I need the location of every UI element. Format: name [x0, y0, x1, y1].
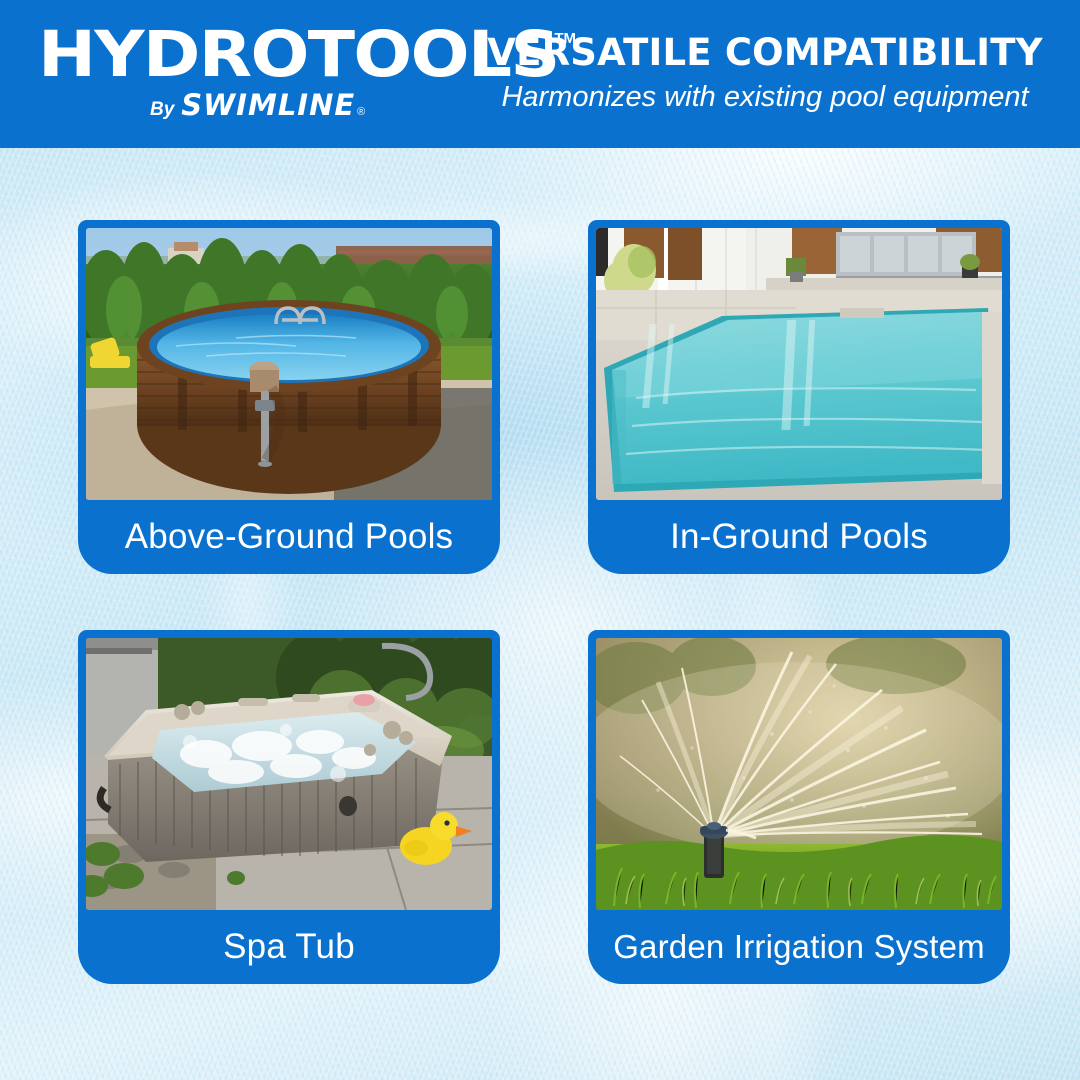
- garden-sprinkler-photo: [596, 638, 1002, 910]
- card-label: Garden Irrigation System: [596, 910, 1002, 984]
- header-text-block: VERSATILE COMPATIBILITY Harmonizes with …: [470, 33, 1080, 115]
- card-label: Above-Ground Pools: [86, 500, 492, 574]
- in-ground-pool-photo: [596, 228, 1002, 500]
- card-label: In-Ground Pools: [596, 500, 1002, 574]
- header-bar: HYDROTOOLS TM By SWIMLINE ® VERSATILE CO…: [0, 0, 1080, 148]
- brand-logo: HYDROTOOLS TM By SWIMLINE ®: [0, 26, 470, 123]
- logo-wordmark: HYDROTOOLS: [38, 26, 559, 84]
- card-label: Spa Tub: [86, 910, 492, 984]
- card-above-ground-pools[interactable]: Above-Ground Pools: [78, 220, 500, 574]
- compatibility-card-grid: Above-Ground Pools: [0, 148, 1080, 1080]
- above-ground-wooden-pool-photo: [86, 228, 492, 500]
- logo-wordmark-row: HYDROTOOLS TM: [38, 26, 576, 84]
- logo-parent-brand-row: By SWIMLINE ®: [150, 88, 365, 122]
- card-spa-tub[interactable]: Spa Tub: [78, 630, 500, 984]
- card-in-ground-pools[interactable]: In-Ground Pools: [588, 220, 1010, 574]
- product-feature-graphic: HYDROTOOLS TM By SWIMLINE ® VERSATILE CO…: [0, 0, 1080, 1080]
- registered-trademark-icon: ®: [357, 106, 365, 118]
- header-subtitle: Harmonizes with existing pool equipment: [470, 79, 1060, 115]
- spa-hot-tub-photo: [86, 638, 492, 910]
- logo-by-label: By: [150, 99, 174, 121]
- logo-parent-brand: SWIMLINE: [181, 88, 355, 122]
- card-garden-irrigation-system[interactable]: Garden Irrigation System: [588, 630, 1010, 984]
